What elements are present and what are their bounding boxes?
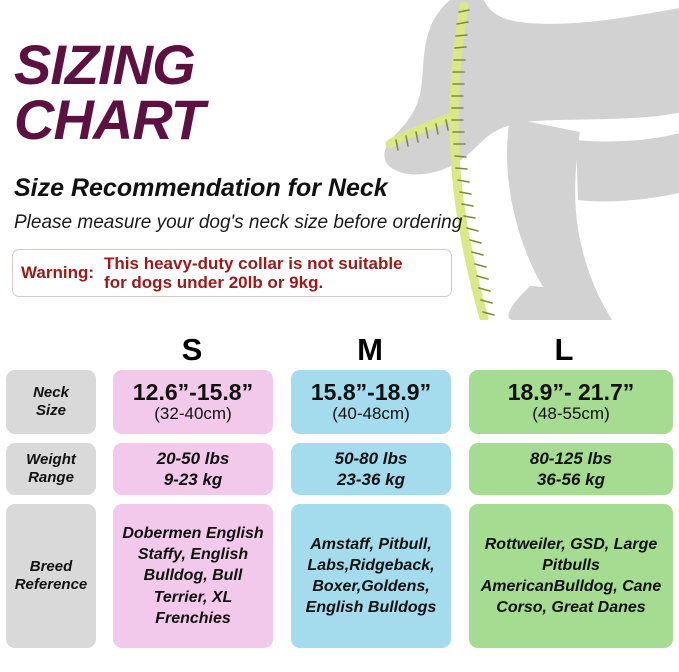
cell-weight-range-l: 80-125 lbs 36-56 kg <box>469 443 673 495</box>
cell-breed-reference-l: Rottweiler, GSD, Large Pitbulls American… <box>469 504 673 648</box>
dog-paw-shape <box>508 286 576 320</box>
row-label-line-2: Size <box>36 402 66 420</box>
table-row-breed-reference: Breed Reference Dobermen English Staffy,… <box>0 504 679 648</box>
page-title: SIZING CHART <box>14 38 434 148</box>
warning-line-2: for dogs under 20lb or 9kg. <box>104 273 403 292</box>
row-label-line-2: Reference <box>15 576 88 594</box>
dog-neck-chest-shape <box>507 118 612 320</box>
row-label-line-1: Breed <box>30 558 73 576</box>
neck-size-m-inches: 15.8”-18.9” <box>311 380 431 404</box>
cell-neck-size-m: 15.8”-18.9” (40-48cm) <box>291 370 451 434</box>
title-line-sizing: SIZING <box>14 38 434 93</box>
sizing-chart-page: SIZING CHART Size Recommendation for Nec… <box>0 0 679 672</box>
weight-l-kg: 36-56 kg <box>537 469 605 490</box>
neck-size-m-cm: (40-48cm) <box>332 404 409 424</box>
table-row-weight-range: Weight Range 20-50 lbs 9-23 kg 50-80 lbs… <box>0 443 679 495</box>
breed-list-l: Rottweiler, GSD, Large Pitbulls American… <box>475 534 667 618</box>
warning-label: Warning: <box>21 263 104 283</box>
neck-size-l-inches: 18.9”- 21.7” <box>508 380 635 404</box>
cell-weight-range-m: 50-80 lbs 23-36 kg <box>291 443 451 495</box>
row-label-weight-range: Weight Range <box>6 443 96 495</box>
sizing-table: Neck Size 12.6”-15.8” (32-40cm) 15.8”-18… <box>0 370 679 657</box>
cell-neck-size-s: 12.6”-15.8” (32-40cm) <box>113 370 273 434</box>
size-header-l: L <box>468 332 660 368</box>
neck-size-l-cm: (48-55cm) <box>532 404 609 424</box>
cell-breed-reference-m: Amstaff, Pitbull, Labs,Ridgeback, Boxer,… <box>291 504 451 648</box>
row-label-neck-size: Neck Size <box>6 370 96 434</box>
row-label-breed-reference: Breed Reference <box>6 504 96 648</box>
dog-body-extension-shape <box>576 130 679 202</box>
cell-breed-reference-s: Dobermen English Staffy, English Bulldog… <box>113 504 273 648</box>
row-label-line-1: Weight <box>26 451 76 469</box>
weight-m-kg: 23-36 kg <box>337 469 405 490</box>
size-header-m: M <box>290 332 450 368</box>
row-label-line-2: Range <box>28 469 74 487</box>
weight-s-lbs: 20-50 lbs <box>157 448 230 469</box>
breed-list-s: Dobermen English Staffy, English Bulldog… <box>119 523 267 629</box>
cell-weight-range-s: 20-50 lbs 9-23 kg <box>113 443 273 495</box>
weight-l-lbs: 80-125 lbs <box>530 448 612 469</box>
instruction-text: Please measure your dog's neck size befo… <box>14 212 462 234</box>
warning-line-1: This heavy-duty collar is not suitable <box>104 254 403 273</box>
subtitle: Size Recommendation for Neck <box>14 174 388 203</box>
size-header-s: S <box>112 332 272 368</box>
measuring-tape-band <box>454 6 484 318</box>
title-line-chart: CHART <box>14 93 434 148</box>
table-row-neck-size: Neck Size 12.6”-15.8” (32-40cm) 15.8”-18… <box>0 370 679 434</box>
row-label-line-1: Neck <box>33 384 69 402</box>
weight-m-lbs: 50-80 lbs <box>335 448 408 469</box>
warning-box: Warning: This heavy-duty collar is not s… <box>12 249 452 297</box>
warning-message: This heavy-duty collar is not suitable f… <box>104 254 403 292</box>
breed-list-m: Amstaff, Pitbull, Labs,Ridgeback, Boxer,… <box>297 534 445 618</box>
neck-size-s-cm: (32-40cm) <box>154 404 231 424</box>
weight-s-kg: 9-23 kg <box>164 469 223 490</box>
size-header-row: S M L <box>0 332 679 366</box>
cell-neck-size-l: 18.9”- 21.7” (48-55cm) <box>469 370 673 434</box>
neck-size-s-inches: 12.6”-15.8” <box>133 380 253 404</box>
